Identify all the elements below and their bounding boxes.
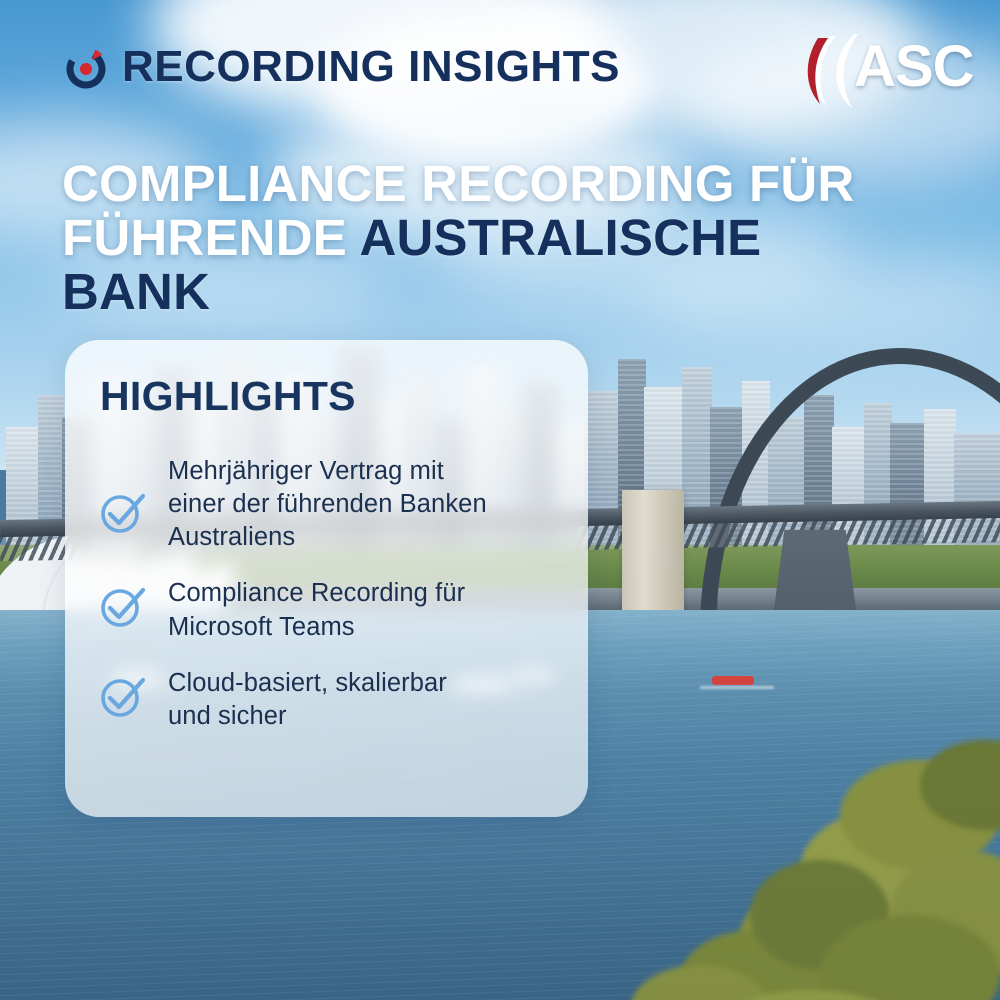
bullet-3-line-2: und sicher [168, 702, 287, 730]
bullet-1-line-2: einer der führenden Banken [168, 490, 487, 518]
highlights-title: HIGHLIGHTS [100, 376, 356, 417]
highlights-list: Mehrjähriger Vertrag mit einer der führe… [98, 454, 570, 733]
headline-line-2-white-text: FÜHRENDE [62, 209, 347, 266]
bullet-2-line-2: Microsoft Teams [168, 613, 355, 641]
headline-line-2: FÜHRENDE AUSTRALISCHE BANK [62, 211, 902, 319]
swoosh-arc-icon [796, 97, 972, 114]
page-title: COMPLIANCE RECORDING FÜR FÜHRENDE AUSTRA… [62, 157, 902, 319]
list-item: Compliance Recording für Microsoft Teams [98, 576, 570, 643]
asc-wordmark: ASC [854, 38, 973, 96]
bullet-1-line-1: Mehrjähriger Vertrag mit [168, 457, 444, 485]
poster-header: RECORDING INSIGHTS ASC [0, 0, 1000, 130]
list-item: Mehrjähriger Vertrag mit einer der führe… [98, 454, 570, 554]
check-circle-icon [98, 672, 146, 720]
list-item-label: Cloud-basiert, skalierbar und sicher [168, 666, 447, 733]
list-item: Cloud-basiert, skalierbar und sicher [98, 666, 570, 733]
recording-insights-wordmark: RECORDING INSIGHTS [122, 45, 620, 89]
recording-insights-logo: RECORDING INSIGHTS [62, 42, 620, 92]
list-item-label: Compliance Recording für Microsoft Teams [168, 576, 465, 643]
asc-logo: ASC [796, 30, 972, 110]
highlights-card: HIGHLIGHTS Mehrjähriger Vertrag mit eine… [65, 340, 588, 817]
bullet-1-line-3: Australiens [168, 523, 295, 551]
list-item-label: Mehrjähriger Vertrag mit einer der führe… [168, 454, 487, 554]
target-record-dot-icon [62, 42, 112, 92]
poster-canvas: RECORDING INSIGHTS ASC COMPLIANCE RECORD… [0, 0, 1000, 1000]
bullet-3-line-1: Cloud-basiert, skalierbar [168, 669, 447, 697]
headline-line-1-text: COMPLIANCE RECORDING FÜR [62, 155, 854, 212]
bullet-2-line-1: Compliance Recording für [168, 579, 465, 607]
check-circle-icon [98, 582, 146, 630]
check-circle-icon [98, 488, 146, 536]
headline-line-1: COMPLIANCE RECORDING FÜR [62, 157, 902, 211]
